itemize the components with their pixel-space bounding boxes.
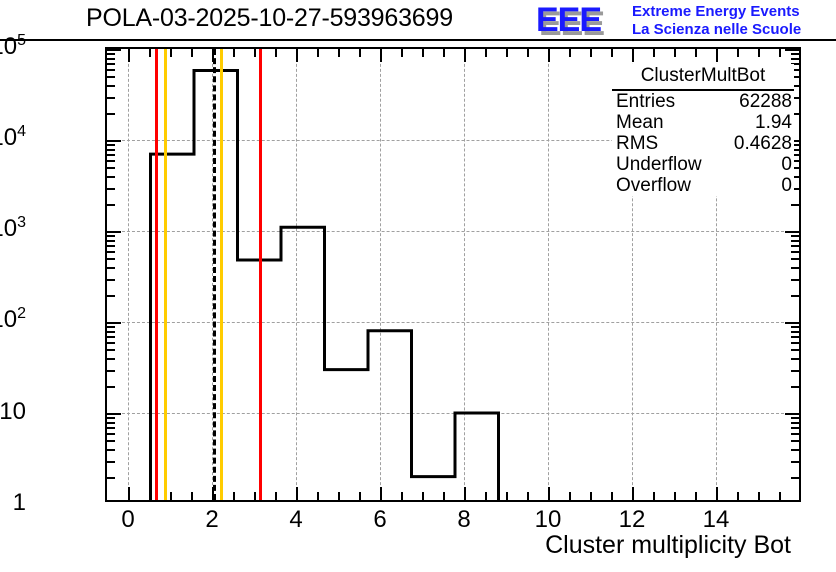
x-ticklabel-4: 4 [276, 506, 316, 534]
marker-line-orange-low [164, 49, 167, 500]
x-ticklabel-14: 14 [696, 506, 736, 534]
marker-line-red-high [259, 49, 262, 500]
eee-logo-mark: EEE [536, 1, 601, 40]
y-ticklabel-10: 10 [0, 398, 26, 426]
x-ticklabel-12: 12 [612, 506, 652, 534]
stats-label-underflow: Underflow [616, 154, 702, 175]
stats-value-rms: 0.4628 [734, 133, 792, 154]
stats-row-entries: Entries 62288 [612, 91, 794, 112]
y-ticklabel-1: 1 [13, 489, 26, 517]
stats-value-overflow: 0 [781, 175, 792, 196]
y-ticklabel-1e4: 104 [0, 123, 26, 152]
stats-value-entries: 62288 [739, 91, 792, 112]
marker-line-red-low [155, 49, 158, 500]
stats-row-overflow: Overflow 0 [612, 175, 794, 196]
stats-label-rms: RMS [616, 133, 658, 154]
stats-row-underflow: Underflow 0 [612, 154, 794, 175]
eee-logo-line1: Extreme Energy Events [632, 3, 800, 20]
header-divider [0, 39, 836, 41]
y-ticklabel-1e3: 103 [0, 214, 26, 243]
x-ticklabel-2: 2 [192, 506, 232, 534]
x-ticklabel-0: 0 [108, 506, 148, 534]
stats-title: ClusterMultBot [612, 64, 794, 91]
page-title: POLA-03-2025-10-27-593963699 [86, 4, 453, 33]
y-ticklabel-100: 102 [0, 305, 26, 334]
x-ticklabel-6: 6 [360, 506, 400, 534]
stats-value-mean: 1.94 [755, 112, 792, 133]
eee-logo: EEE Extreme Energy Events La Scienza nel… [536, 3, 832, 41]
stats-value-underflow: 0 [781, 154, 792, 175]
eee-logo-line2: La Scienza nelle Scuole [632, 21, 801, 38]
stats-row-mean: Mean 1.94 [612, 112, 794, 133]
y-ticklabel-1e5: 105 [0, 32, 26, 61]
stats-box: ClusterMultBot Entries 62288 Mean 1.94 R… [612, 64, 794, 196]
x-ticklabel-10: 10 [528, 506, 568, 534]
stats-label-mean: Mean [616, 112, 664, 133]
stats-label-entries: Entries [616, 91, 675, 112]
stats-label-overflow: Overflow [616, 175, 691, 196]
marker-line-orange-high [220, 49, 223, 500]
x-ticklabel-8: 8 [444, 506, 484, 534]
stats-row-rms: RMS 0.4628 [612, 133, 794, 154]
marker-line-mean [213, 49, 216, 500]
x-axis-title: Cluster multiplicity Bot [0, 531, 801, 560]
